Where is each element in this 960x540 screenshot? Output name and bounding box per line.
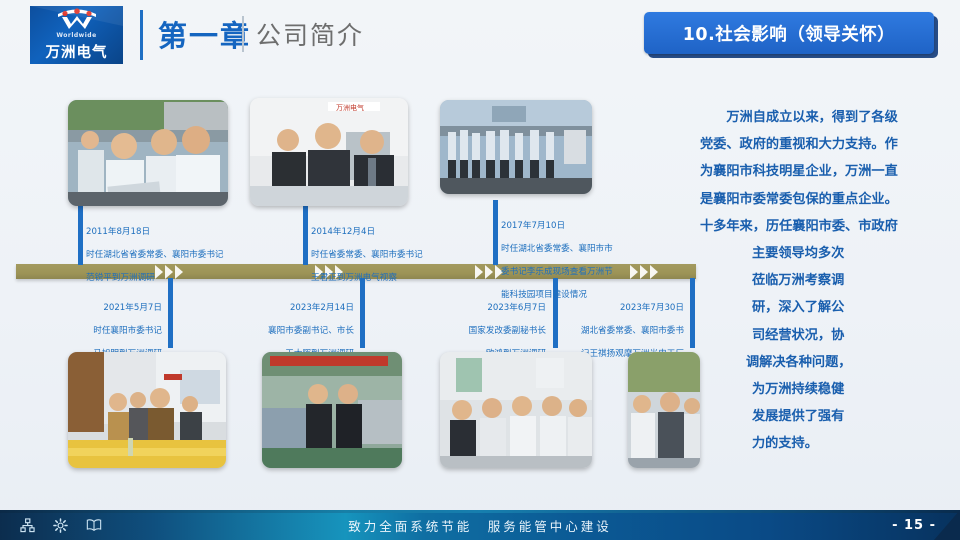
event-desc-e2-l1: 时任省委常委、襄阳市委书记 (311, 250, 461, 261)
header-divider (140, 10, 143, 60)
event-date-e7: 2023年7月30日 (560, 303, 684, 314)
paragraph-line-5: 十多年来，历任襄阳市委、市政府 (700, 213, 952, 240)
event-photo-e5[interactable] (262, 352, 402, 468)
paragraph-line-2: 党委、政府的重视和大力支持。作 (700, 131, 952, 158)
paragraph-line-13: 力的支持。 (700, 430, 952, 457)
paragraph-line-8: 研，深入了解公 (700, 294, 952, 321)
event-desc-e2-l2: 王君正到万洲电气视察 (311, 273, 461, 284)
paragraph-line-3: 为襄阳市科技明星企业，万洲一直 (700, 158, 952, 185)
paragraph-line-12: 发展提供了强有 (700, 403, 952, 430)
event-photo-e1[interactable] (68, 100, 228, 206)
event-desc-e5-l1: 襄阳市委副书记、市长 (222, 326, 354, 337)
event-photo-e2[interactable]: 万洲电气 (250, 98, 408, 206)
description-paragraph: 万洲自成立以来，得到了各级 党委、政府的重视和大力支持。作 为襄阳市科技明星企业… (700, 104, 952, 458)
chapter-title: 第一章 (158, 13, 251, 55)
event-desc-e3-l2: 委书记李乐成现场查看万洲节 (501, 267, 631, 278)
paragraph-line-11: 为万洲持续稳健 (700, 376, 952, 403)
topic-badge-label: 10.社会影响（领导关怀） (683, 21, 896, 46)
event-date-e1: 2011年8月18日 (86, 227, 236, 238)
footer-slogan: 致力全面系统节能 服务能管中心建设 (0, 516, 960, 535)
timeline-tick-e2 (303, 205, 308, 265)
event-caption-e2: 2014年12月4日 时任省委常委、襄阳市委书记 王君正到万洲电气视察 (311, 216, 461, 296)
event-date-e4: 2021年5月7日 (30, 303, 162, 314)
event-date-e5: 2023年2月14日 (222, 303, 354, 314)
topic-badge: 10.社会影响（领导关怀） (644, 12, 934, 54)
event-photo-e6[interactable] (440, 352, 592, 468)
paragraph-line-10: 调解决各种问题， (700, 349, 952, 376)
chapter-separator (242, 16, 244, 52)
page-number: - 15 - (892, 518, 936, 533)
logo-brand-cn: 万洲电气 (46, 41, 108, 62)
w-crown-logo-icon (54, 8, 100, 30)
paragraph-line-7: 莅临万洲考察调 (700, 267, 952, 294)
footer-bar: 致力全面系统节能 服务能管中心建设 - 15 - (0, 510, 960, 540)
chapter-subtitle: 公司简介 (256, 16, 364, 52)
paragraph-line-6: 主要领导均多次 (700, 240, 952, 267)
event-caption-e1: 2011年8月18日 时任湖北省省委常委、襄阳市委书记 范锐平到万洲调研 (86, 216, 236, 296)
event-desc-e4-l1: 时任襄阳市委书记 (30, 326, 162, 337)
timeline-tick-e1 (78, 205, 83, 265)
event-date-e2: 2014年12月4日 (311, 227, 461, 238)
event-date-e3: 2017年7月10日 (501, 221, 631, 232)
logo-brand-en: Worldwide (56, 32, 96, 39)
event-desc-e3-l1: 时任湖北省委常委、襄阳市市 (501, 244, 631, 255)
svg-text:万洲电气: 万洲电气 (336, 103, 364, 112)
event-desc-e1-l2: 范锐平到万洲调研 (86, 273, 236, 284)
timeline-tick-e3 (493, 200, 498, 265)
event-photo-e4[interactable] (68, 352, 226, 468)
footer-corner-accent (934, 510, 960, 540)
event-photo-e7[interactable] (628, 352, 700, 468)
paragraph-line-4: 是襄阳市委常委包保的重点企业。 (700, 186, 952, 213)
event-date-e6: 2023年6月7日 (418, 303, 546, 314)
paragraph-line-9: 司经营状况，协 (700, 322, 952, 349)
event-desc-e7-l1: 湖北省委常委、襄阳市委书 (560, 326, 684, 337)
event-desc-e1-l1: 时任湖北省省委常委、襄阳市委书记 (86, 250, 236, 261)
company-logo: Worldwide 万洲电气 (30, 6, 123, 64)
event-photo-e3[interactable] (440, 100, 592, 194)
event-desc-e6-l1: 国家发改委副秘书长 (418, 326, 546, 337)
slide-canvas: Worldwide 万洲电气 第一章 公司简介 10.社会影响（领导关怀） (0, 0, 960, 540)
paragraph-line-1: 万洲自成立以来，得到了各级 (700, 104, 952, 131)
timeline-tick-e7 (690, 278, 695, 348)
